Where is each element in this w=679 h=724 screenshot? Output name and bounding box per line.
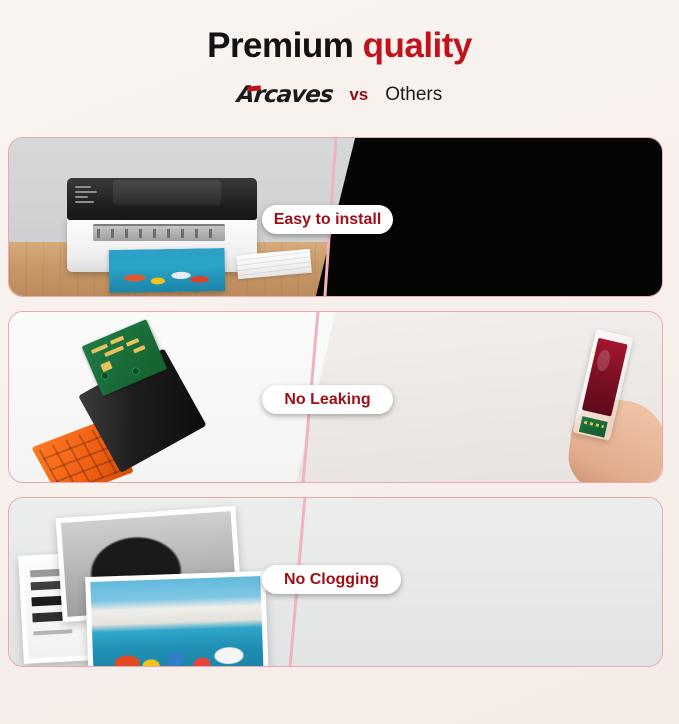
printer-control-panel (75, 186, 103, 212)
printed-photo-output (109, 248, 226, 293)
badge-no-clogging: No Clogging (262, 565, 401, 594)
badge-no-leaking: No Leaking (262, 385, 393, 414)
title-quality: quality (363, 26, 472, 65)
chip-pad (100, 371, 110, 381)
competitor-label: Others (385, 84, 442, 106)
vs-separator: vs (349, 85, 368, 105)
harbor-photo-print (85, 571, 269, 666)
page-title: Premium quality (0, 28, 679, 63)
printer-lid (113, 180, 221, 205)
chip-pad (130, 366, 140, 376)
printer-paper-slot (93, 224, 225, 241)
brand-comparison-row: Arcaves vs Others (0, 82, 679, 108)
cartridge-chip-icon (579, 416, 608, 437)
title-premium: Premium (207, 26, 363, 65)
printer-illustration (67, 178, 257, 272)
brand-logo: Arcaves (235, 82, 333, 108)
printer-top-cover (67, 178, 257, 220)
badge-easy-to-install: Easy to install (262, 205, 393, 234)
sealed-cartridge-illustration (19, 312, 231, 482)
header: Premium quality Arcaves vs Others (0, 0, 679, 108)
